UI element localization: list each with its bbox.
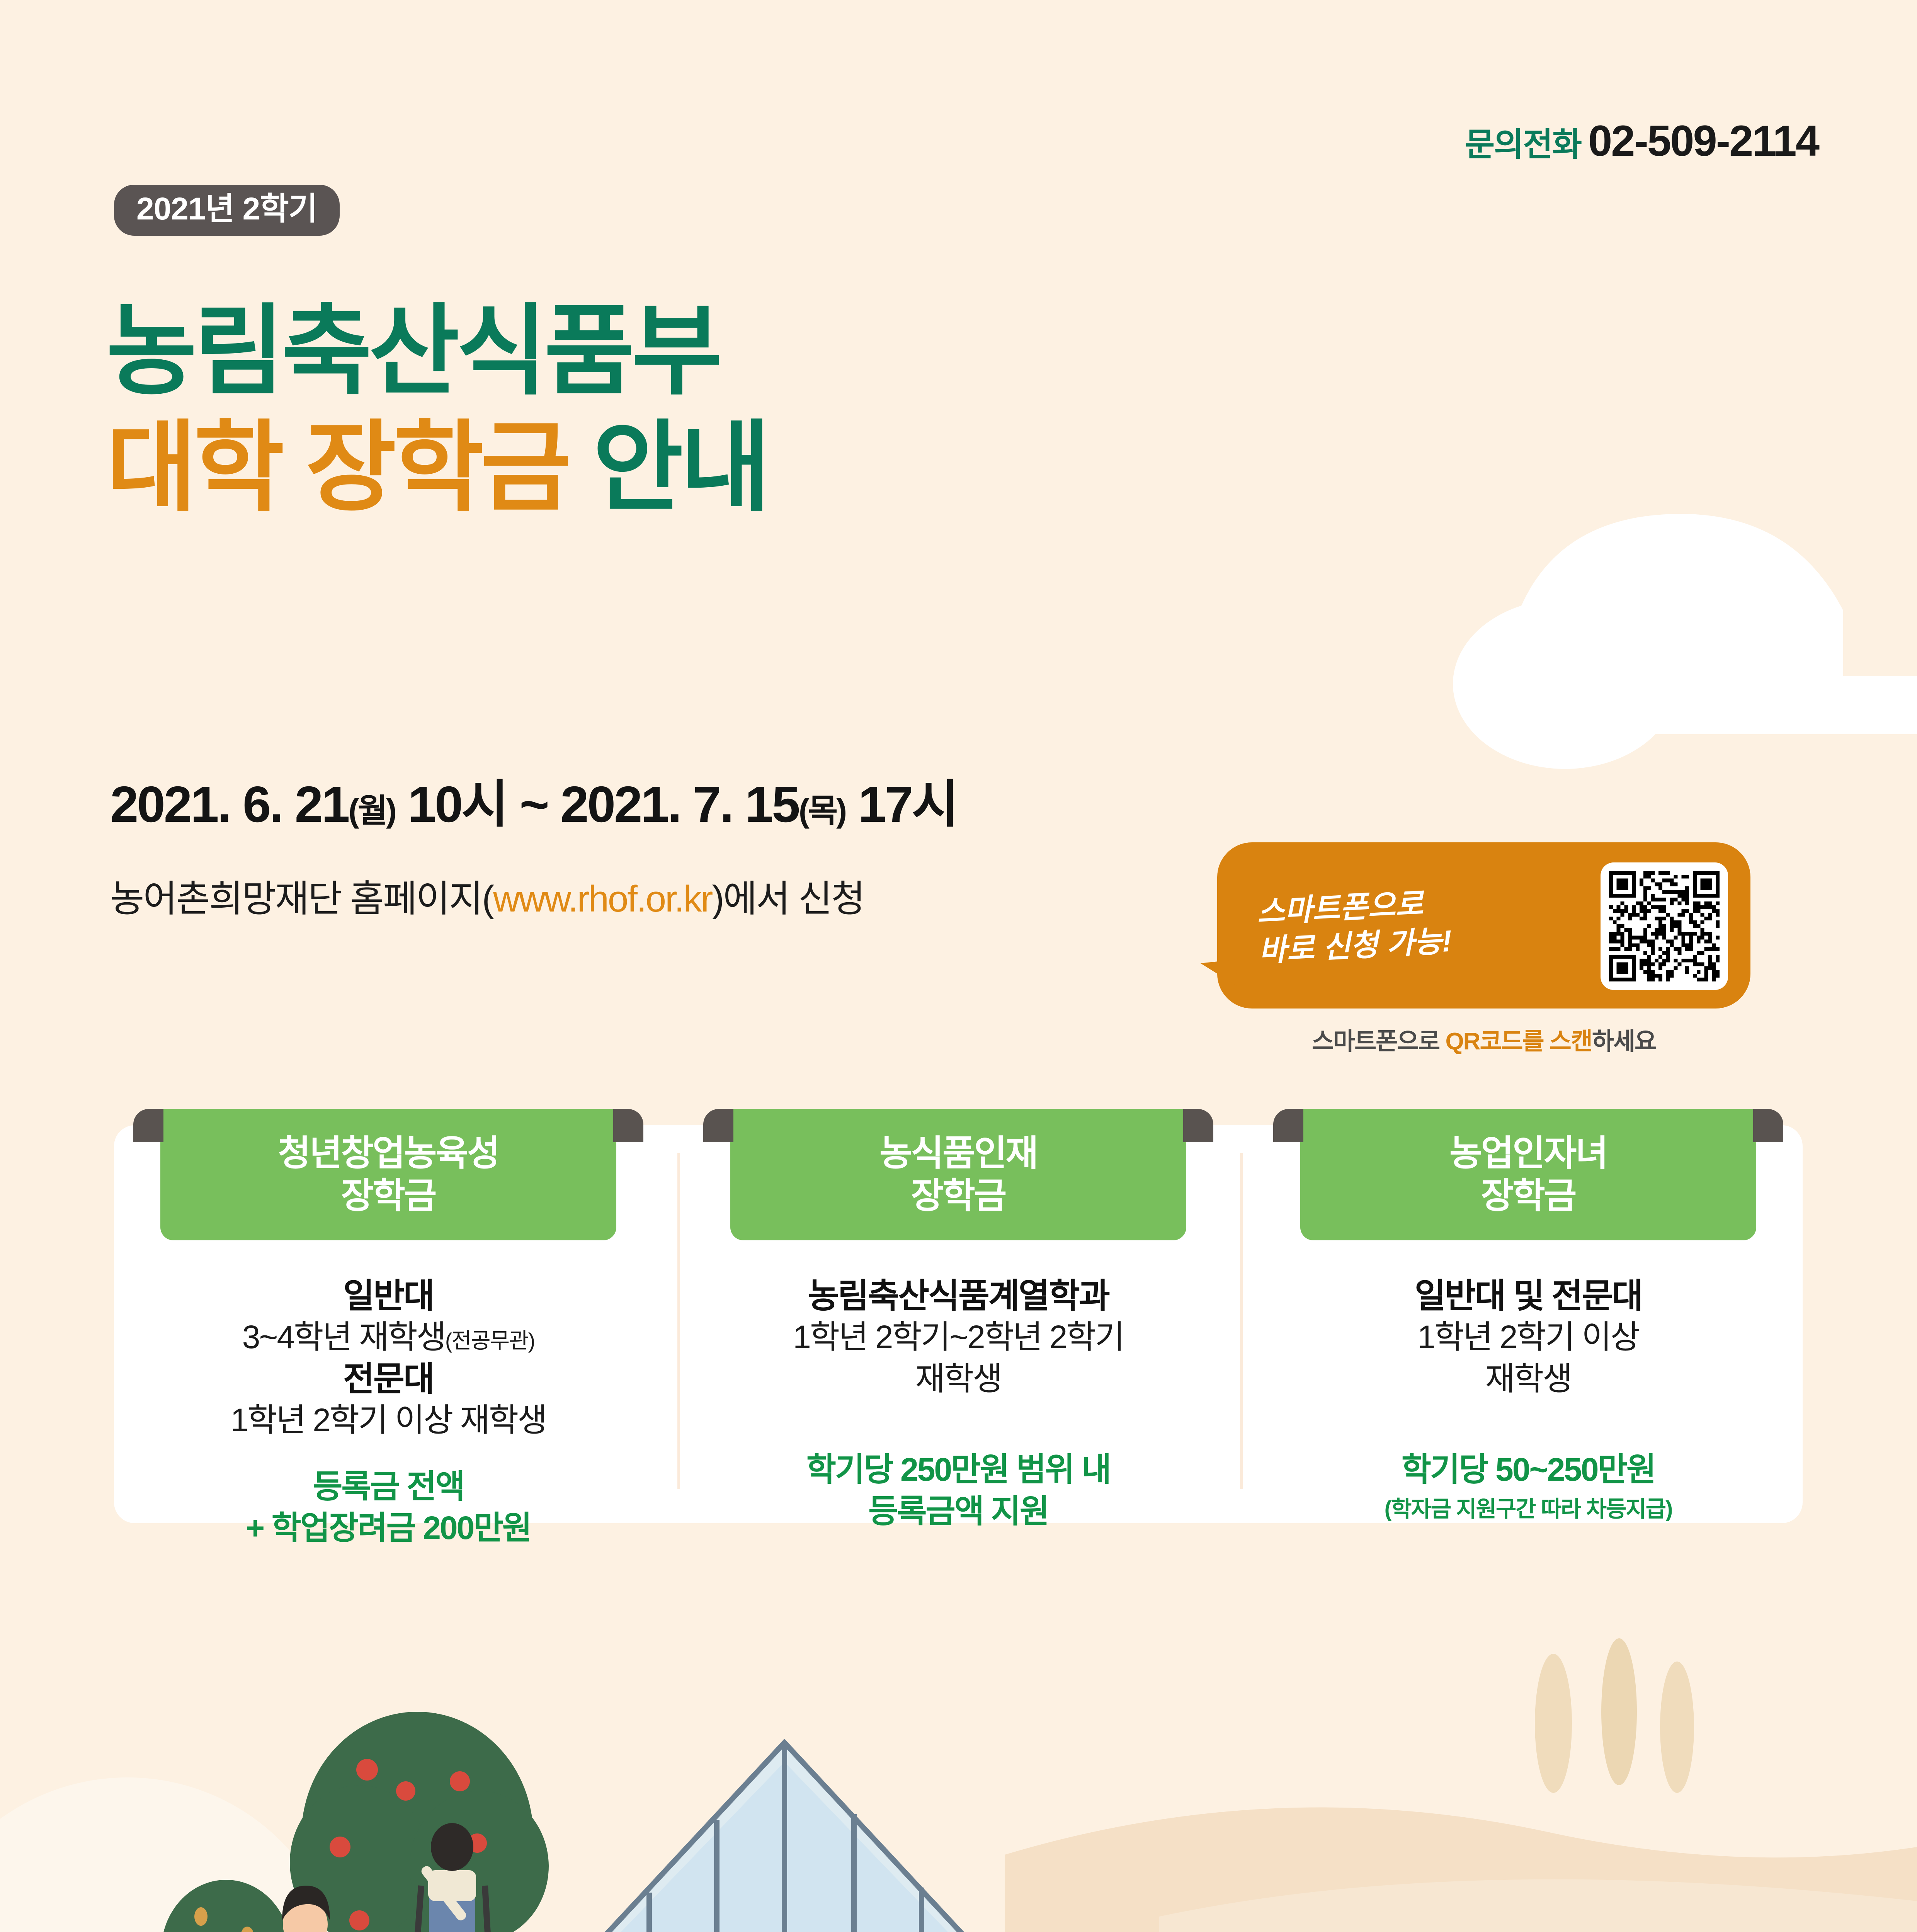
card-ribbon-header: 농업인자녀 장학금: [1300, 1109, 1756, 1240]
period-end-time: 17시: [858, 776, 957, 833]
card-title-line1: 농식품인재: [879, 1132, 1037, 1175]
qr-caption-suffix: 하세요: [1592, 1028, 1656, 1055]
eligibility-line: 재학생: [688, 1358, 1229, 1400]
apply-instruction: 농어촌희망재단 홈페이지(www.rhof.or.kr)에서 신청: [110, 869, 864, 922]
period-start-day: (월): [349, 793, 395, 829]
semester-badge: 2021년 2학기: [114, 185, 340, 236]
card-title-line2: 장학금: [341, 1175, 436, 1217]
qr-section: 스마트폰으로 바로 신청 가능! 스마트폰으로 QR코드를 스캔하세요: [1217, 842, 1766, 1056]
scholarship-card[interactable]: 농식품인재 장학금 농림축산식품계열학과 1학년 2학기~2학년 2학기 재학생…: [688, 1109, 1229, 1532]
title-line-ministry: 농림축산식품부: [106, 294, 768, 410]
scholarship-card[interactable]: 청년창업농육성 장학금 일반대 3~4학년 재학생(전공무관) 전문대 1학년 …: [118, 1109, 659, 1549]
amount-line: 등록금 전액: [118, 1466, 659, 1508]
card-body: 일반대 및 전문대 1학년 2학기 이상 재학생 학기당 50~250만원 (학…: [1258, 1275, 1799, 1523]
ribbon-tab-right-icon: [613, 1109, 643, 1142]
poster-root: 문의전화 02-509-2114 2021년 2학기 농림축산식품부 대학 장학…: [0, 0, 1917, 1932]
eligibility-note: (전공무관): [445, 1328, 534, 1353]
period-end-date: 2021. 7. 15: [560, 776, 799, 833]
apply-prefix: 농어촌희망재단 홈페이지(: [110, 878, 493, 920]
amount-note: (학자금 지원구간 따라 차등지급): [1258, 1491, 1799, 1523]
application-period: 2021. 6. 21(월) 10시 ~ 2021. 7. 15(목) 17시: [110, 763, 957, 837]
eligibility-line: 1학년 2학기~2학년 2학기: [688, 1316, 1229, 1358]
apply-suffix: )에서 신청: [712, 878, 864, 920]
card-ribbon-header: 청년창업농육성 장학금: [160, 1109, 616, 1240]
amount-line: 학기당 250만원 범위 내: [688, 1449, 1229, 1491]
period-start-date: 2021. 6. 21: [110, 776, 349, 833]
card-body: 일반대 3~4학년 재학생(전공무관) 전문대 1학년 2학기 이상 재학생 등…: [118, 1275, 659, 1549]
ribbon-tab-right-icon: [1183, 1109, 1213, 1142]
ribbon-tab-left-icon: [1273, 1109, 1303, 1142]
title-guide: 안내: [593, 413, 768, 523]
eligibility-line: 전문대: [118, 1358, 659, 1400]
qr-bubble-text: 스마트폰으로 바로 신청 가능!: [1256, 881, 1507, 971]
ribbon-tab-right-icon: [1753, 1109, 1783, 1142]
period-start-time: 10시: [408, 776, 507, 833]
amount-line: 등록금액 지원: [688, 1491, 1229, 1532]
qr-code[interactable]: [1601, 862, 1728, 990]
card-title-line2: 장학금: [911, 1175, 1006, 1217]
scholarship-card[interactable]: 농업인자녀 장학금 일반대 및 전문대 1학년 2학기 이상 재학생 학기당 5…: [1258, 1109, 1799, 1523]
contact-phone: 문의전화 02-509-2114: [1465, 116, 1818, 166]
scholarship-cards: 청년창업농육성 장학금 일반대 3~4학년 재학생(전공무관) 전문대 1학년 …: [114, 1109, 1803, 1538]
title-line-subject: 대학 장학금 안내: [106, 410, 768, 526]
amount-line: 학기당 50~250만원: [1258, 1449, 1799, 1491]
ribbon-tab-left-icon: [703, 1109, 733, 1142]
qr-speech-bubble: 스마트폰으로 바로 신청 가능!: [1217, 842, 1750, 1009]
card-title-line1: 청년창업농육성: [278, 1132, 498, 1175]
card-ribbon-header: 농식품인재 장학금: [730, 1109, 1186, 1240]
phone-number: 02-509-2114: [1588, 116, 1818, 166]
eligibility-line: 1학년 2학기 이상 재학생: [118, 1400, 659, 1441]
amount-line: + 학업장려금 200만원: [118, 1507, 659, 1549]
card-body: 농림축산식품계열학과 1학년 2학기~2학년 2학기 재학생 학기당 250만원…: [688, 1275, 1229, 1532]
page-title: 농림축산식품부 대학 장학금 안내: [106, 294, 768, 526]
ribbon-tab-left-icon: [133, 1109, 163, 1142]
eligibility-line: 농림축산식품계열학과: [688, 1275, 1229, 1316]
eligibility-line: 일반대 및 전문대: [1258, 1275, 1799, 1316]
qr-caption-highlight: QR코드를 스캔: [1445, 1028, 1592, 1055]
eligibility-line: 3~4학년 재학생(전공무관): [118, 1316, 659, 1358]
farm-illustration: [0, 1615, 1917, 1932]
eligibility-line: 일반대: [118, 1275, 659, 1316]
eligibility-line: 1학년 2학기 이상: [1258, 1316, 1799, 1358]
phone-label: 문의전화: [1465, 119, 1581, 165]
qr-caption: 스마트폰으로 QR코드를 스캔하세요: [1217, 1022, 1750, 1056]
eligibility-text: 3~4학년 재학생: [242, 1319, 445, 1355]
period-separator: ~: [519, 776, 548, 833]
period-end-day: (목): [799, 793, 845, 829]
qr-caption-prefix: 스마트폰으로: [1312, 1028, 1445, 1055]
card-title-line1: 농업인자녀: [1449, 1132, 1607, 1175]
apply-url-link[interactable]: www.rhof.or.kr: [493, 878, 712, 920]
card-title-line2: 장학금: [1481, 1175, 1576, 1217]
eligibility-line: 재학생: [1258, 1358, 1799, 1400]
title-scholarship: 대학 장학금: [106, 413, 568, 523]
